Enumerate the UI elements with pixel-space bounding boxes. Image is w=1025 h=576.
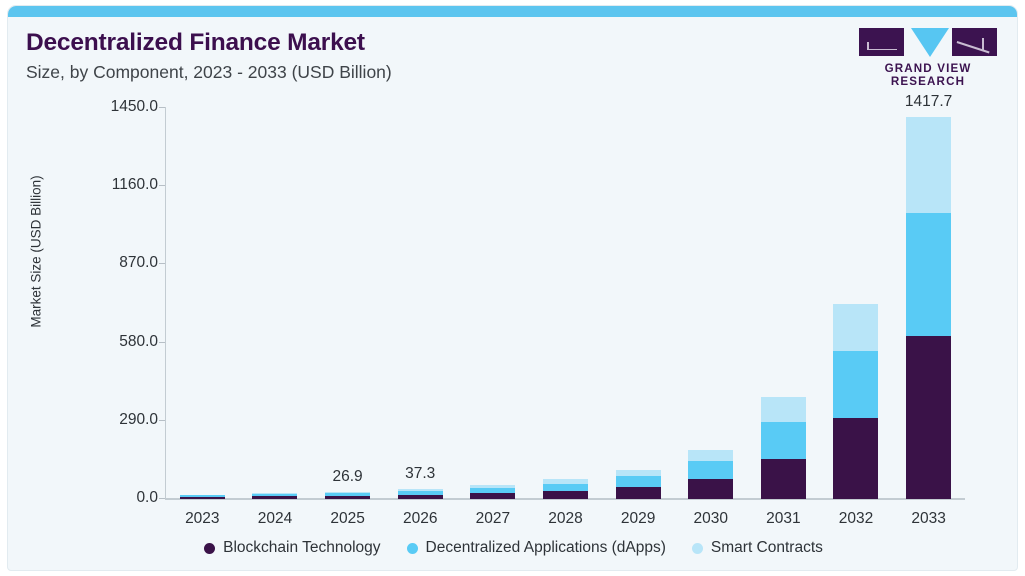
bar-segment[interactable] <box>833 351 878 418</box>
x-tick-label: 2026 <box>385 510 455 528</box>
bar-stack[interactable] <box>398 489 443 499</box>
legend-label: Smart Contracts <box>711 539 823 557</box>
chart-legend: Blockchain TechnologyDecentralized Appli… <box>8 539 1018 557</box>
legend-color-dot <box>407 543 418 554</box>
y-tick-label: 0.0 <box>86 490 158 505</box>
x-tick-label: 2033 <box>894 510 964 528</box>
bar-column[interactable] <box>461 107 525 499</box>
bar-group: 26.937.31417.7 <box>166 107 965 499</box>
x-tick-label: 2024 <box>240 510 310 528</box>
bar-stack[interactable] <box>833 304 878 499</box>
bar-segment[interactable] <box>325 496 370 499</box>
bar-column[interactable] <box>243 107 307 499</box>
bar-value-label: 26.9 <box>332 468 362 486</box>
bar-stack[interactable] <box>761 397 806 499</box>
y-tick-label: 290.0 <box>86 412 158 427</box>
bar-column[interactable] <box>679 107 743 499</box>
chart-plot-area: Market Size (USD Billion) 0.0290.0580.08… <box>8 6 1018 571</box>
x-tick-label: 2030 <box>676 510 746 528</box>
y-tick-label: 870.0 <box>86 255 158 270</box>
bar-segment[interactable] <box>543 491 588 499</box>
y-tick-label: 580.0 <box>86 334 158 349</box>
legend-label: Blockchain Technology <box>223 539 380 557</box>
bar-segment[interactable] <box>688 450 733 461</box>
bar-value-label: 37.3 <box>405 465 435 483</box>
bar-segment[interactable] <box>761 459 806 499</box>
legend-label: Decentralized Applications (dApps) <box>426 539 666 557</box>
bar-column[interactable]: 37.3 <box>388 107 452 499</box>
bar-segment[interactable] <box>688 461 733 479</box>
bar-segment[interactable] <box>398 495 443 499</box>
bar-stack[interactable] <box>616 470 661 499</box>
bar-segment[interactable] <box>833 304 878 351</box>
bar-segment[interactable] <box>616 476 661 487</box>
bar-column[interactable] <box>824 107 888 499</box>
bar-segment[interactable] <box>906 336 951 499</box>
bar-column[interactable]: 1417.7 <box>897 107 961 499</box>
y-axis-title: Market Size (USD Billion) <box>29 132 44 372</box>
bar-column[interactable] <box>751 107 815 499</box>
bar-stack[interactable] <box>688 450 733 499</box>
chart-page: Decentralized Finance Market Size, by Co… <box>0 0 1025 576</box>
y-tick-label: 1160.0 <box>86 177 158 192</box>
x-tick-label: 2023 <box>167 510 237 528</box>
legend-item[interactable]: Blockchain Technology <box>204 539 380 557</box>
bar-segment[interactable] <box>761 422 806 458</box>
bar-segment[interactable] <box>470 493 515 499</box>
bar-segment[interactable] <box>833 418 878 499</box>
x-tick-label: 2031 <box>748 510 818 528</box>
bar-segment[interactable] <box>688 479 733 499</box>
legend-item[interactable]: Smart Contracts <box>692 539 823 557</box>
bar-segment[interactable] <box>616 487 661 499</box>
bar-segment[interactable] <box>906 213 951 336</box>
bar-column[interactable]: 26.9 <box>316 107 380 499</box>
bar-column[interactable] <box>533 107 597 499</box>
chart-card: Decentralized Finance Market Size, by Co… <box>7 5 1018 571</box>
bar-segment[interactable] <box>252 496 297 499</box>
bar-stack[interactable] <box>470 485 515 499</box>
bar-segment[interactable] <box>761 397 806 422</box>
bar-segment[interactable] <box>543 484 588 491</box>
bar-segment[interactable] <box>180 497 225 499</box>
legend-item[interactable]: Decentralized Applications (dApps) <box>407 539 666 557</box>
bar-value-label: 1417.7 <box>905 93 952 111</box>
x-tick-label: 2028 <box>531 510 601 528</box>
x-tick-label: 2032 <box>821 510 891 528</box>
bar-stack[interactable] <box>543 479 588 499</box>
bar-segment[interactable] <box>906 117 951 213</box>
x-tick-label: 2025 <box>313 510 383 528</box>
y-tick-label: 1450.0 <box>86 99 158 114</box>
bar-stack[interactable] <box>180 495 225 499</box>
bar-stack[interactable] <box>325 492 370 499</box>
x-tick-label: 2027 <box>458 510 528 528</box>
bar-column[interactable] <box>170 107 234 499</box>
legend-color-dot <box>204 543 215 554</box>
legend-color-dot <box>692 543 703 554</box>
bar-stack[interactable] <box>906 117 951 499</box>
bar-column[interactable] <box>606 107 670 499</box>
x-tick-label: 2029 <box>603 510 673 528</box>
bar-stack[interactable] <box>252 493 297 499</box>
